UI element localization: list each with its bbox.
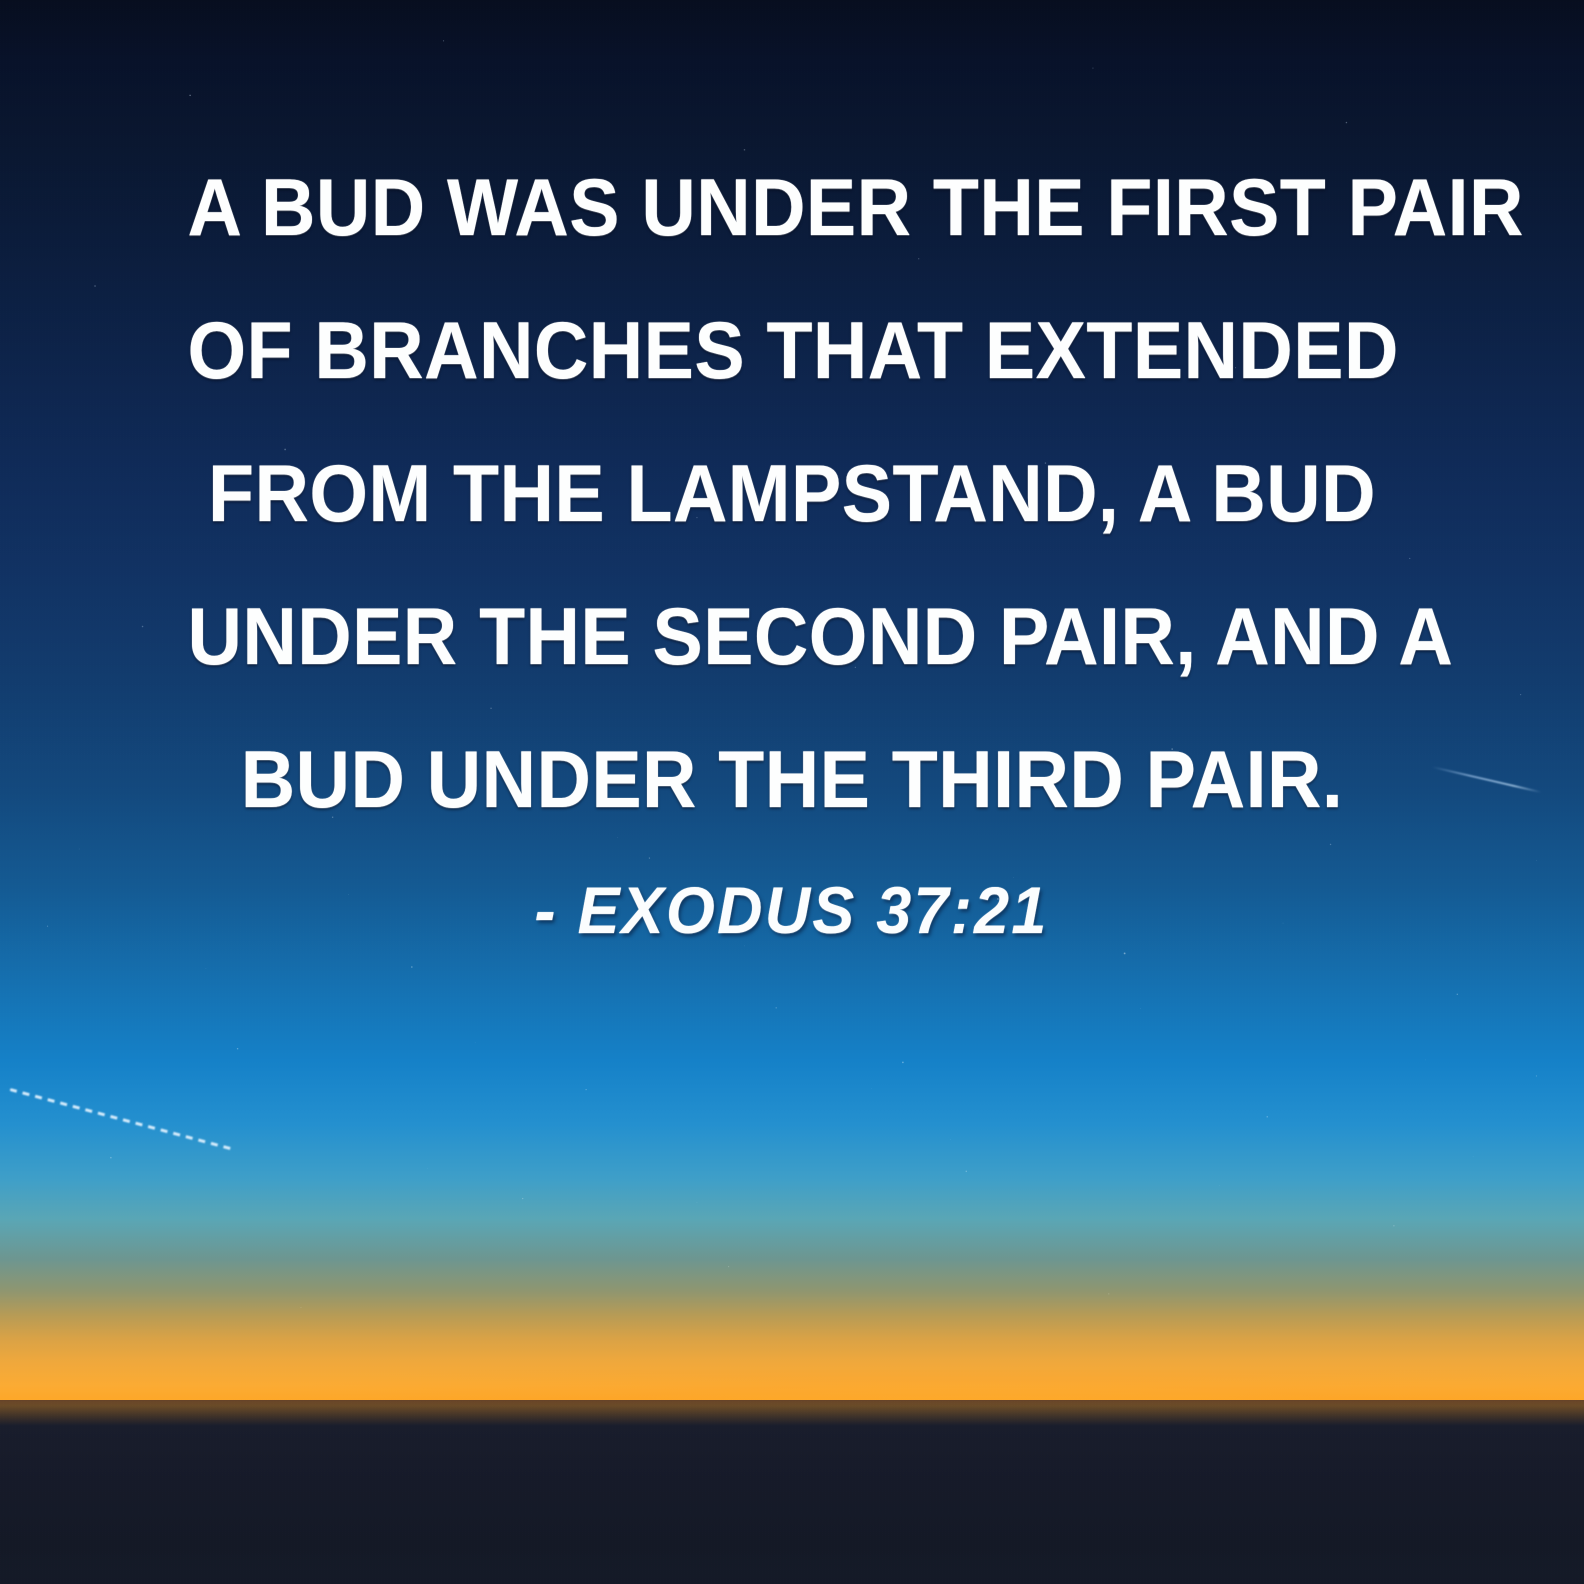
- verse-line: BUD UNDER THE THIRD PAIR.: [188, 709, 1397, 852]
- verse-line: A BUD WAS UNDER THE FIRST PAIR: [188, 137, 1397, 280]
- quote-card: A BUD WAS UNDER THE FIRST PAIR OF BRANCH…: [0, 0, 1584, 1584]
- verse-text-block: A BUD WAS UNDER THE FIRST PAIR OF BRANCH…: [142, 0, 1442, 852]
- dark-ground-plane: [0, 1400, 1584, 1584]
- verse-reference: - EXODUS 37:21: [535, 872, 1049, 948]
- verse-line: UNDER THE SECOND PAIR, AND A: [188, 566, 1397, 709]
- verse-line: FROM THE LAMPSTAND, A BUD: [188, 423, 1397, 566]
- verse-line: OF BRANCHES THAT EXTENDED: [188, 280, 1397, 423]
